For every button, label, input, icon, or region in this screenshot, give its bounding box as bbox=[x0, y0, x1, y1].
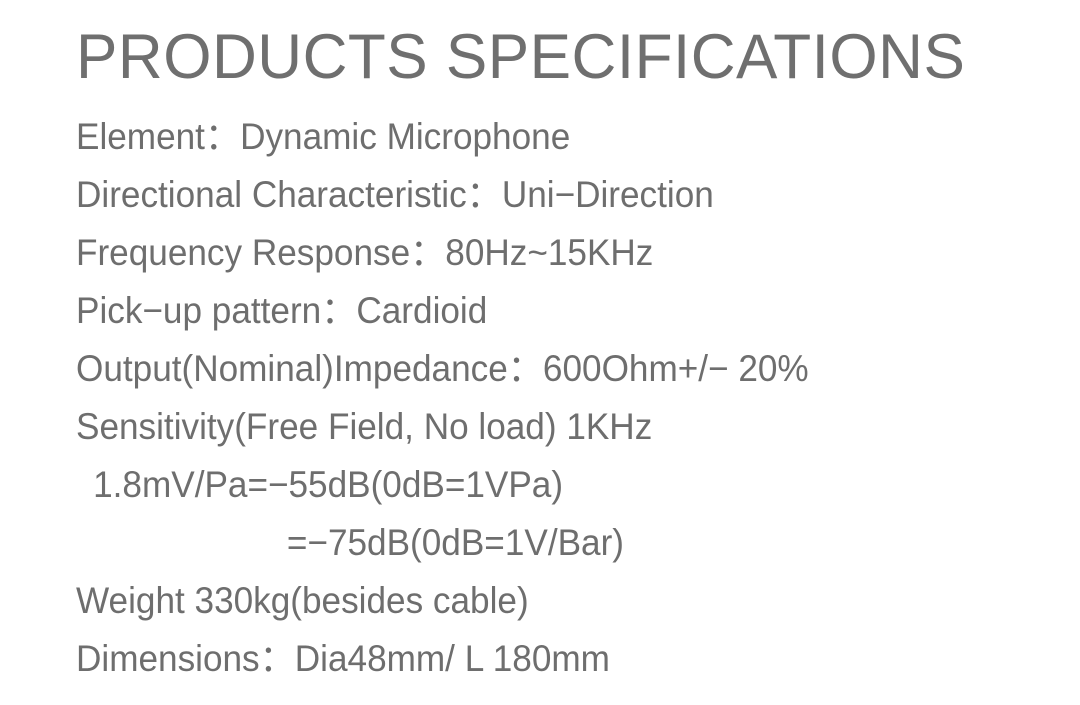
spec-line-sensitivity: Sensitivity(Free Field, No load) 1KHz bbox=[76, 398, 1017, 456]
spec-line-frequency-response: Frequency Response：80Hz~15KHz bbox=[76, 224, 1017, 282]
page-title: PRODUCTS SPECIFICATIONS bbox=[76, 24, 965, 90]
spec-line-sensitivity-value-1: 1.8mV/Pa=−55dB(0dB=1VPa) bbox=[76, 456, 1017, 514]
spec-line-dimensions: Dimensions：Dia48mm/ L 180mm bbox=[76, 630, 1017, 688]
spec-line-directional-characteristic: Directional Characteristic：Uni−Direction bbox=[76, 166, 1017, 224]
specification-page: PRODUCTS SPECIFICATIONS Element：Dynamic … bbox=[0, 0, 1080, 705]
spec-line-sensitivity-value-2: =−75dB(0dB=1V/Bar) bbox=[76, 514, 1017, 572]
specification-list: Element：Dynamic Microphone Directional C… bbox=[76, 108, 1066, 688]
spec-line-pickup-pattern: Pick−up pattern：Cardioid bbox=[76, 282, 1017, 340]
spec-line-weight: Weight 330kg(besides cable) bbox=[76, 572, 1017, 630]
spec-line-output-impedance: Output(Nominal)Impedance：600Ohm+/− 20% bbox=[76, 340, 1017, 398]
spec-line-element: Element：Dynamic Microphone bbox=[76, 108, 1017, 166]
